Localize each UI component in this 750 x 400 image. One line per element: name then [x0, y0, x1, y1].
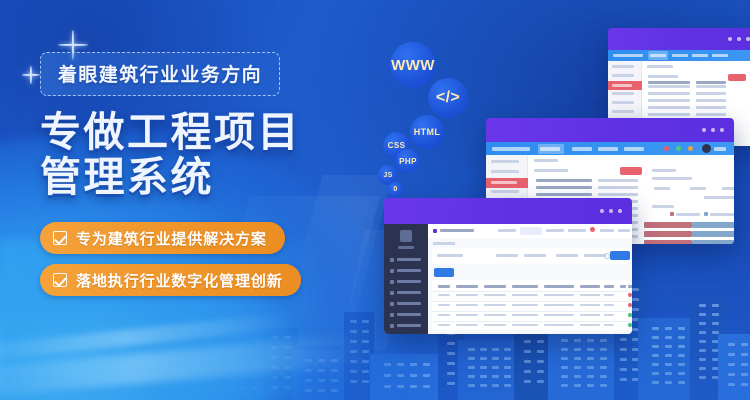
table-cell	[604, 294, 614, 296]
table-column-header	[620, 285, 626, 288]
feature-pill-2-label: 落地执行行业数字化管理创新	[76, 270, 283, 291]
table-column-header	[580, 285, 600, 288]
add-button[interactable]	[434, 268, 454, 277]
table-cell	[648, 99, 690, 102]
chart-bar-segment-blue	[692, 222, 734, 228]
sparkle-2	[22, 66, 40, 84]
dashboard-middle-titlebar	[486, 118, 734, 142]
row-status-dot	[628, 303, 632, 307]
table-cell	[544, 314, 574, 316]
headline-line-1: 专做工程项目	[40, 110, 370, 155]
window-control-dot[interactable]	[711, 128, 715, 132]
status-indicator-dot[interactable]	[676, 146, 681, 151]
sidebar-item[interactable]	[612, 65, 634, 68]
feature-pill-1-label: 专为建筑行业提供解决方案	[76, 228, 267, 249]
sidebar-item-label[interactable]	[397, 313, 421, 316]
chart-bar-segment-red	[644, 231, 692, 237]
tech-bubble-0: 0	[388, 182, 403, 197]
table-cell	[484, 314, 506, 316]
table-cell	[604, 314, 614, 316]
filter-field[interactable]	[496, 254, 518, 257]
header-menu-item[interactable]	[568, 229, 586, 232]
table-cell	[696, 92, 726, 95]
table-cell	[580, 314, 600, 316]
table-cell	[512, 294, 538, 296]
app-logo	[492, 147, 530, 151]
table-column-header	[628, 285, 632, 288]
sidebar-item-label[interactable]	[397, 258, 421, 261]
legend-label	[676, 213, 700, 216]
header-action[interactable]	[600, 229, 614, 232]
sidebar-item[interactable]	[612, 101, 634, 104]
table-header	[696, 81, 726, 84]
header-menu-active[interactable]	[520, 227, 542, 235]
sidebar-item-icon	[390, 302, 394, 306]
tech-bubble-: </>	[428, 78, 468, 118]
window-control-dot[interactable]	[600, 209, 604, 213]
table-cell	[696, 99, 726, 102]
table-cell	[456, 294, 478, 296]
chart-bar-segment-blue	[692, 240, 734, 244]
nav-tab[interactable]	[624, 147, 644, 151]
table-cell	[512, 324, 538, 326]
data-table	[432, 280, 628, 330]
table-cell	[456, 304, 478, 306]
window-control-dot[interactable]	[702, 128, 706, 132]
feature-pill-2[interactable]: 落地执行行业数字化管理创新	[40, 264, 301, 296]
reset-label[interactable]	[652, 169, 676, 172]
dashboard-front	[384, 198, 632, 334]
table-cell	[696, 113, 726, 116]
nav-tab[interactable]	[572, 147, 592, 151]
sidebar-item[interactable]	[612, 74, 634, 77]
sidebar-item[interactable]	[612, 110, 634, 113]
header-icon	[433, 229, 437, 233]
list-cell	[536, 179, 592, 182]
sidebar-item-icon	[390, 280, 394, 284]
list-cell	[598, 186, 638, 189]
chart-title	[652, 177, 692, 180]
chart-meta	[704, 196, 734, 199]
sidebar-item-active-label	[612, 84, 632, 87]
checkbox-checked-icon	[53, 273, 67, 287]
nav-tab-active[interactable]	[648, 51, 668, 60]
sidebar-item-icon	[390, 291, 394, 295]
nav-tab[interactable]	[672, 54, 688, 57]
table-cell	[604, 304, 614, 306]
primary-action-button[interactable]	[728, 74, 746, 81]
dashboard-back-titlebar	[608, 28, 750, 50]
dashboard-front-titlebar	[384, 198, 632, 224]
notification-badge[interactable]	[590, 227, 595, 232]
nav-tab[interactable]	[692, 54, 708, 57]
list-cell	[598, 179, 638, 182]
headline: 专做工程项目 管理系统	[40, 110, 370, 200]
user-name	[714, 147, 726, 151]
table-cell	[544, 324, 574, 326]
window-control-dot[interactable]	[737, 37, 741, 41]
header-menu-item[interactable]	[546, 229, 564, 232]
search-button[interactable]	[620, 167, 642, 175]
filter-label	[648, 75, 678, 78]
tech-bubble-HTML: HTML	[410, 115, 444, 149]
window-control-dot[interactable]	[746, 37, 750, 41]
table-row-divider	[432, 291, 628, 292]
user-avatar[interactable]	[702, 144, 711, 153]
chart-bar-segment-blue	[692, 231, 734, 237]
sidebar-item-label[interactable]	[397, 302, 421, 305]
page-title	[440, 229, 474, 232]
app-logo-icon	[400, 230, 412, 242]
sidebar-item[interactable]	[491, 190, 519, 193]
table-cell	[544, 294, 574, 296]
table-cell	[512, 304, 538, 306]
header-action[interactable]	[618, 229, 630, 232]
table-cell	[648, 92, 690, 95]
eyebrow-badge: 着眼建筑行业业务方向	[40, 52, 280, 96]
chart-bar-segment-red	[644, 222, 692, 228]
filter-field[interactable]	[556, 254, 578, 257]
table-cell	[438, 304, 450, 306]
app-topbar	[486, 142, 734, 155]
nav-tab[interactable]	[598, 147, 618, 151]
headline-line-2: 管理系统	[40, 155, 370, 200]
table-cell	[438, 324, 450, 326]
checkbox-checked-icon	[53, 231, 67, 245]
sidebar-item[interactable]	[491, 160, 519, 163]
row-status-dot	[628, 293, 632, 297]
legend-swatch	[704, 212, 708, 216]
table-cell	[456, 314, 478, 316]
table-cell	[580, 294, 600, 296]
table-cell	[648, 85, 690, 88]
table-cell	[456, 324, 478, 326]
table-column-header	[604, 285, 614, 288]
table-column-header	[438, 285, 450, 288]
filter-toolbar	[432, 248, 628, 264]
chart-panel	[648, 177, 734, 244]
row-status-dot	[628, 313, 632, 317]
list-cell	[536, 186, 592, 189]
filter-field[interactable]	[524, 254, 546, 257]
sidebar-item-icon	[390, 324, 394, 328]
window-control-dot[interactable]	[728, 37, 732, 41]
table-cell	[438, 314, 450, 316]
content-breadcrumb	[534, 159, 558, 162]
sidebar-item-label[interactable]	[397, 291, 421, 294]
table-row-divider	[432, 321, 628, 322]
table-cell	[648, 106, 690, 109]
window-control-dot[interactable]	[609, 209, 613, 213]
table-row-divider	[432, 311, 628, 312]
app-sidebar	[384, 224, 428, 334]
sidebar-item-icon	[390, 258, 394, 262]
chart-bar-segment-red	[644, 240, 692, 244]
sidebar-item[interactable]	[612, 92, 634, 95]
breadcrumb	[433, 242, 455, 245]
tech-bubble-PHP: PHP	[396, 149, 420, 173]
app-content	[428, 224, 632, 334]
tech-bubble-WWW: WWW	[390, 42, 436, 88]
window-control-dot[interactable]	[720, 128, 724, 132]
table-row-divider	[432, 301, 628, 302]
list-cell	[598, 193, 638, 196]
sidebar-item-active-label	[491, 181, 517, 184]
chart-filter[interactable]	[690, 187, 706, 190]
chart-filter[interactable]	[722, 187, 734, 190]
table-cell	[512, 314, 538, 316]
sidebar-item-label[interactable]	[397, 269, 421, 272]
status-indicator-dot[interactable]	[688, 146, 693, 151]
table-cell	[648, 113, 690, 116]
search-label	[534, 169, 568, 172]
search-button[interactable]	[610, 251, 630, 260]
app-logo-label	[398, 246, 414, 249]
sidebar-item[interactable]	[491, 170, 519, 173]
app-header	[428, 224, 632, 238]
sidebar-item-icon	[390, 269, 394, 273]
chart-filter[interactable]	[654, 187, 670, 190]
legend-swatch	[670, 212, 674, 216]
sidebar-item-label[interactable]	[397, 280, 421, 283]
table-column-header	[512, 285, 538, 288]
filter-label	[437, 254, 463, 257]
filter-field[interactable]	[584, 254, 606, 257]
app-topbar	[608, 50, 750, 61]
table-column-header	[544, 285, 574, 288]
row-status-dot	[628, 323, 632, 327]
table-column-header	[484, 285, 506, 288]
table-cell	[484, 304, 506, 306]
table-cell	[484, 324, 506, 326]
table-cell	[544, 304, 574, 306]
chart-axis-label	[652, 205, 674, 208]
dashboard-front-app-area	[384, 224, 632, 334]
table-cell	[696, 85, 726, 88]
content-breadcrumb	[647, 65, 673, 68]
sidebar-item-label[interactable]	[397, 324, 421, 327]
table-cell	[604, 324, 614, 326]
app-logo	[613, 54, 643, 57]
table-column-header	[456, 285, 478, 288]
feature-pill-1[interactable]: 专为建筑行业提供解决方案	[40, 222, 285, 254]
table-cell	[484, 294, 506, 296]
table-header	[648, 81, 690, 84]
header-menu-item[interactable]	[498, 229, 516, 232]
table-cell	[438, 294, 450, 296]
list-cell	[536, 193, 592, 196]
nav-tab[interactable]	[712, 54, 728, 57]
nav-tab[interactable]	[540, 147, 560, 151]
marketing-copy-block: 着眼建筑行业业务方向 专做工程项目 管理系统 专为建筑行业提供解决方案 落地执行…	[40, 52, 370, 306]
status-indicator-dot[interactable]	[664, 146, 669, 151]
promotional-banner: WWW</>HTMLCSSPHPJS0 着眼建筑行业业务方向 专做工程项目 管理…	[0, 0, 750, 400]
table-cell	[696, 106, 726, 109]
table-cell	[580, 304, 600, 306]
feature-pill-list: 专为建筑行业提供解决方案 落地执行行业数字化管理创新	[40, 222, 370, 296]
legend-label	[710, 213, 734, 216]
table-cell	[580, 324, 600, 326]
sidebar-item-icon	[390, 313, 394, 317]
window-control-dot[interactable]	[618, 209, 622, 213]
